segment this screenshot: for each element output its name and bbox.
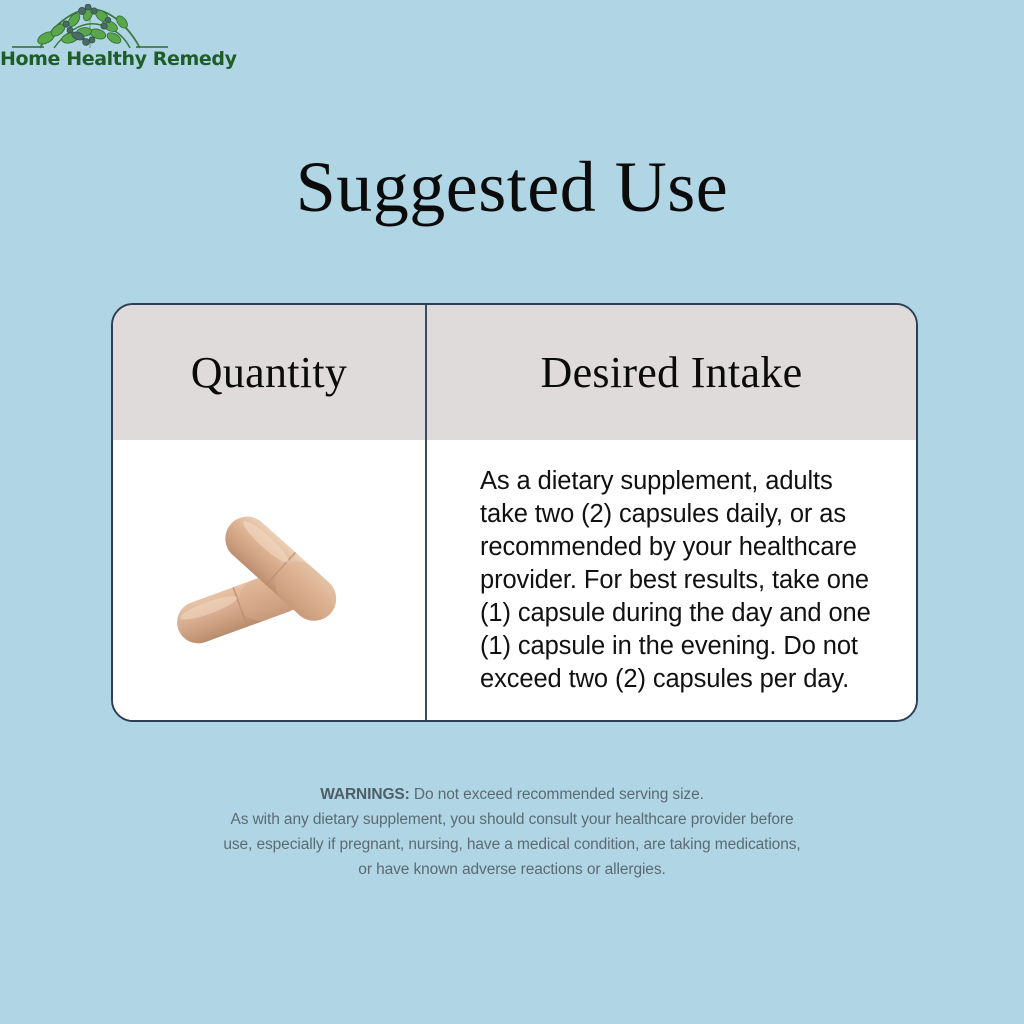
table-cell-quantity [113, 440, 427, 720]
leafy-branch-icon [10, 4, 170, 52]
suggested-use-table: Quantity Desired Intake [111, 303, 918, 722]
column-header-label: Desired Intake [541, 347, 803, 398]
warnings-line-4: or have known adverse reactions or aller… [0, 857, 1024, 882]
warnings-block: WARNINGS: Do not exceed recommended serv… [0, 782, 1024, 882]
table-row: As a dietary supplement, adults take two… [113, 440, 916, 720]
warnings-line-1: WARNINGS: Do not exceed recommended serv… [0, 782, 1024, 807]
warnings-line-2: As with any dietary supplement, you shou… [0, 807, 1024, 832]
column-header-label: Quantity [191, 347, 347, 398]
brand-logo[interactable]: Home Healthy Remedy [0, 4, 180, 82]
page-title: Suggested Use [0, 146, 1024, 229]
warnings-line-1-text: Do not exceed recommended serving size. [410, 786, 704, 803]
table-cell-desired-intake: As a dietary supplement, adults take two… [427, 440, 916, 720]
warnings-line-3: use, especially if pregnant, nursing, ha… [0, 832, 1024, 857]
brand-name: Home Healthy Remedy [0, 48, 180, 70]
table-header-row: Quantity Desired Intake [113, 305, 916, 440]
table-header-cell-desired-intake: Desired Intake [427, 305, 916, 440]
intake-instructions-text: As a dietary supplement, adults take two… [480, 465, 880, 696]
warnings-label: WARNINGS: [320, 786, 410, 803]
two-capsules-image [162, 498, 377, 663]
table-header-cell-quantity: Quantity [113, 305, 427, 440]
